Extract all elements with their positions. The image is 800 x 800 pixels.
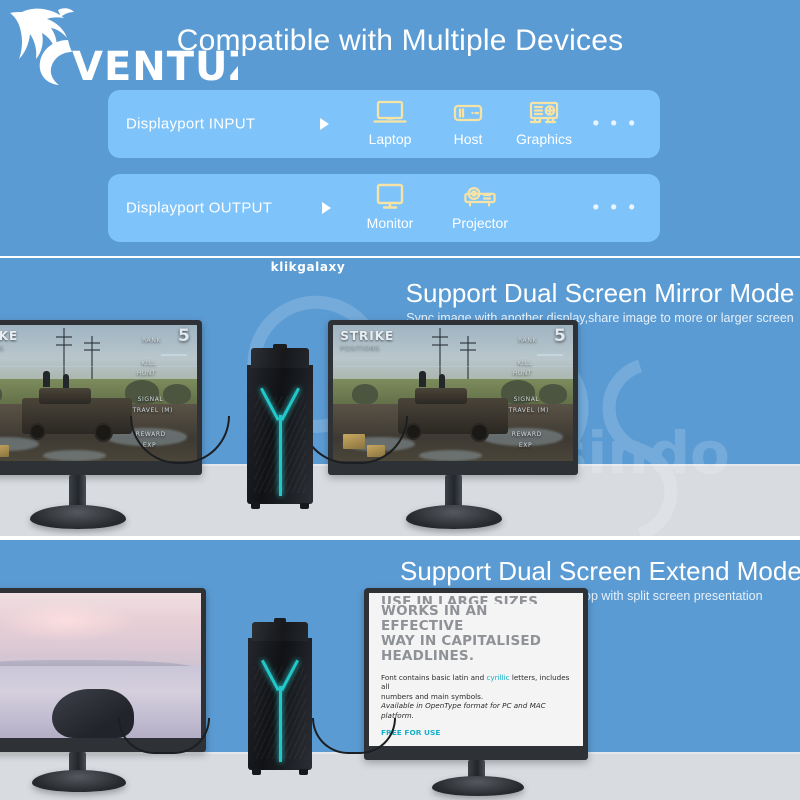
specimen-free-label: FREE FOR USE — [381, 728, 571, 737]
font-specimen-document: USE IN LARGE SIZES AND WORKS IN AN EFFEC… — [369, 593, 583, 746]
hud-label-reward: REWARD — [512, 431, 542, 438]
body-line-3: Available in OpenType format for PC and … — [381, 701, 546, 719]
projector-icon — [438, 180, 522, 214]
headline-line-1: WORKS IN AN EFFECTIVE — [381, 603, 488, 634]
hud-label-travel: TRAVEL (M) — [509, 407, 549, 414]
extend-section-title: Support Dual Screen Extend Mode — [400, 556, 800, 587]
hud-label-rank: RANK — [142, 337, 161, 344]
device-projector: Projector — [438, 180, 522, 231]
screen-seascape — [0, 593, 201, 738]
device-laptop: Laptop — [348, 96, 432, 147]
hud-label-hunt: HUNT — [137, 370, 156, 377]
body-line-2: numbers and main symbols. — [381, 692, 483, 701]
device-label: Laptop — [348, 131, 432, 147]
headline-line-3: HEADLINES. — [381, 648, 474, 664]
device-host: Host — [426, 96, 510, 147]
mirror-mode-section: Solusindo klikgalaxy Support Dual Screen… — [0, 258, 800, 536]
product-infographic: VENTUZ Compatible with Multiple Devices … — [0, 0, 800, 800]
screen-font-specimen: USE IN LARGE SIZES AND WORKS IN AN EFFEC… — [369, 593, 583, 746]
panel-label-input: Displayport INPUT — [126, 116, 255, 133]
hud-label-kill: KILL — [141, 360, 156, 367]
page-title: Compatible with Multiple Devices — [0, 24, 800, 58]
hud-rank-value: 5 — [554, 326, 566, 346]
hud-subtitle: POSITIONS — [340, 344, 380, 352]
hud-title: STRIKE — [0, 329, 18, 343]
device-label: Host — [426, 131, 510, 147]
more-devices-ellipsis: • • • — [592, 115, 638, 134]
hud-label-kill: KILL — [517, 360, 532, 367]
pc-tower-extend — [248, 622, 312, 770]
monitor-right-extend: USE IN LARGE SIZES AND WORKS IN AN EFFEC… — [364, 588, 588, 788]
extend-mode-section: Support Dual Screen Extend Mode Extend y… — [0, 540, 800, 800]
hud-label-hunt: HUNT — [513, 370, 532, 377]
panel-label-output: Displayport OUTPUT — [126, 200, 272, 217]
hud-label-signal: SIGNAL — [514, 396, 540, 403]
specimen-body: Font contains basic latin and cyrillic l… — [381, 673, 571, 720]
hud-title: STRIKE — [340, 329, 394, 343]
device-label: Monitor — [348, 215, 432, 231]
hud-label-exp: EXP — [519, 442, 532, 449]
specimen-headline: USE IN LARGE SIZES AND WORKS IN AN EFFEC… — [381, 595, 571, 664]
seller-badge: klikgalaxy — [232, 258, 384, 276]
monitor-left-extend — [0, 588, 206, 788]
hud-label-rank: RANK — [518, 337, 537, 344]
hud-label-signal: SIGNAL — [138, 396, 164, 403]
more-devices-ellipsis: • • • — [592, 199, 638, 218]
hud-label-travel: TRAVEL (M) — [133, 407, 173, 414]
hero-section: VENTUZ Compatible with Multiple Devices … — [0, 0, 800, 256]
body-line-1a: Font contains basic latin and — [381, 673, 486, 682]
headline-line-2: WAY IN CAPITALISED — [381, 633, 541, 649]
laptop-icon — [348, 96, 432, 130]
monitor-icon — [348, 180, 432, 214]
hud-subtitle: POSITIONS — [0, 344, 4, 352]
device-label: Graphics — [502, 131, 586, 147]
hud-rank-value: 5 — [178, 326, 190, 346]
triangle-right-icon — [322, 202, 331, 214]
device-monitor: Monitor — [348, 180, 432, 231]
mirror-section-title: Support Dual Screen Mirror Mode — [400, 278, 800, 309]
displayport-output-panel: Displayport OUTPUT Monitor — [108, 174, 660, 242]
host-pc-icon — [426, 96, 510, 130]
graphics-card-icon — [502, 96, 586, 130]
displayport-input-panel: Displayport INPUT Laptop — [108, 90, 660, 158]
body-cyrillic-link: cyrillic — [486, 673, 509, 682]
triangle-right-icon — [320, 118, 329, 130]
device-graphics: Graphics — [502, 96, 586, 147]
device-label: Projector — [438, 215, 522, 231]
seascape-wallpaper — [0, 593, 201, 738]
pc-tower-mirror — [247, 348, 313, 504]
